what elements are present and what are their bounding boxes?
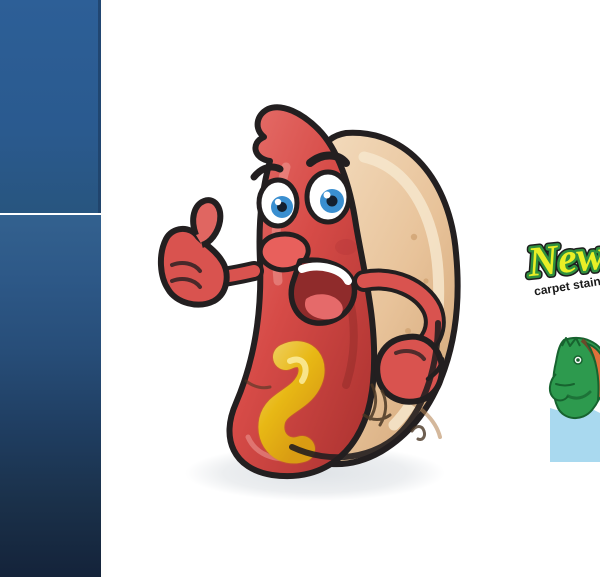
canvas-left-shade bbox=[101, 0, 109, 577]
hot-dog-mascot-illustration bbox=[150, 85, 490, 505]
left-arm-thumbs-up bbox=[161, 200, 254, 304]
thumbnail-green-creature[interactable] bbox=[548, 334, 600, 462]
sidebar-panel: ic nt bbox=[0, 0, 101, 577]
sidebar-heading-line-1: ic bbox=[0, 252, 101, 308]
sidebar-heading-text: ic nt bbox=[0, 252, 101, 364]
sidebar-heading-line-2: nt bbox=[0, 308, 101, 364]
initials-mark bbox=[412, 427, 425, 440]
sidebar-header-section bbox=[0, 0, 101, 213]
thumbnail-new-carpet-logo[interactable]: New New New carpet stain bbox=[524, 228, 600, 300]
